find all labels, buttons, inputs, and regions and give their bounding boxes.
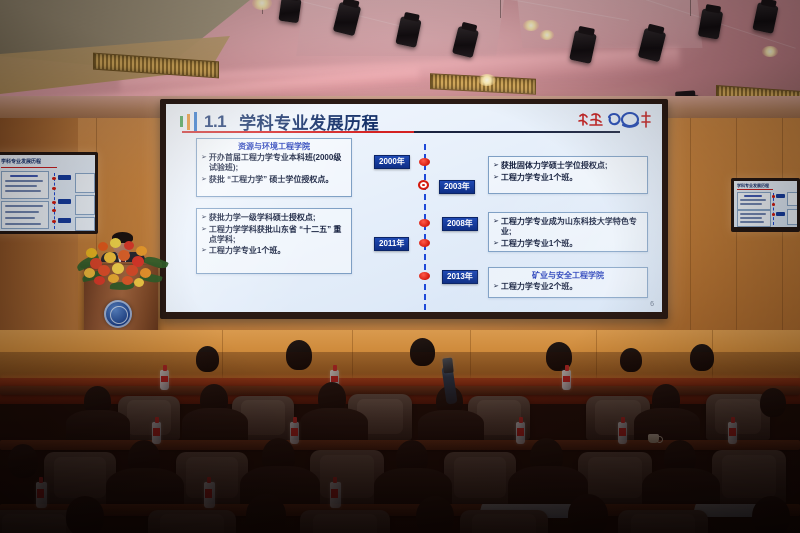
bullet-arrow-icon: ➢: [493, 173, 499, 184]
box-heading: 资源与环境工程学院: [201, 142, 347, 152]
timeline-marker-2000: [419, 158, 430, 166]
box-item: ➢工程力学专业成为山东科技大学特色专业;: [493, 217, 643, 238]
slide-box-mid-right: ➢工程力学专业成为山东科技大学特色专业; ➢工程力学专业1个班。: [488, 212, 648, 252]
slide-box-top-left: 资源与环境工程学院 ➢开办首届工程力学专业本科班(2000级试验班); ➢获批 …: [196, 138, 352, 197]
bullet-arrow-icon: ➢: [201, 175, 207, 186]
slide-box-top-right: ➢获批固体力学硕士学位授权点; ➢工程力学专业1个班。: [488, 156, 648, 194]
box-item: ➢工程力学专业1个班。: [201, 246, 347, 257]
timeline-marker-2008: [419, 219, 430, 227]
side-monitor-left: 学科专业发展历程: [0, 152, 98, 234]
bullet-arrow-icon: ➢: [201, 246, 207, 257]
university-emblem-icon: [104, 300, 132, 328]
box-item: ➢工程力学学科获批山东省 “十二五” 重点学科;: [201, 225, 347, 246]
title-tick-blue-icon: [194, 112, 197, 131]
audience-shadow-overlay: [0, 352, 800, 533]
ceiling-downlight: [762, 46, 778, 57]
slide-box-bottom-left: ➢获批力学一级学科硕士授权点; ➢工程力学学科获批山东省 “十二五” 重点学科;…: [196, 208, 352, 274]
bullet-arrow-icon: ➢: [201, 225, 207, 246]
bullet-arrow-icon: ➢: [493, 217, 499, 238]
floral-arrangement: [80, 232, 164, 288]
timeline-axis: [424, 144, 426, 310]
ceiling-downlight: [540, 30, 554, 40]
bullet-arrow-icon: ➢: [201, 213, 207, 224]
projection-screen: 1.1 学科专业发展历程 资源与环境工程学院 ➢开办首届工程力学专业本科班(20…: [166, 104, 662, 312]
box-item: ➢工程力学专业2个班。: [493, 282, 643, 293]
monitor-left-title: 学科专业发展历程: [1, 158, 41, 165]
anniversary-logo-icon: [576, 108, 652, 134]
side-monitor-right: 学科专业发展历程: [731, 178, 800, 232]
ceiling-downlight: [523, 20, 539, 31]
timeline-year-2003: 2003年: [439, 180, 475, 194]
timeline-year-2000: 2000年: [374, 155, 410, 169]
rigging-wire: [690, 0, 691, 16]
bullet-arrow-icon: ➢: [201, 153, 207, 174]
rigging-wire: [500, 0, 501, 18]
ceiling-panel: [517, 0, 702, 48]
box-item: ➢获批力学一级学科硕士授权点;: [201, 213, 347, 224]
lecture-hall-scene: 学科专业发展历程: [0, 0, 800, 533]
timeline-year-2011: 2011年: [374, 237, 409, 251]
box-item: ➢开办首届工程力学专业本科班(2000级试验班);: [201, 153, 347, 174]
title-tick-green-icon: [180, 116, 183, 127]
timeline-marker-2003: [418, 180, 429, 190]
ceiling-downlight: [478, 74, 496, 86]
timeline-year-2013: 2013年: [442, 270, 478, 284]
bullet-arrow-icon: ➢: [493, 239, 499, 250]
box-heading: 矿业与安全工程学院: [493, 271, 643, 281]
slide-section-number: 1.1: [204, 112, 226, 132]
bullet-arrow-icon: ➢: [493, 161, 499, 172]
slide-box-bottom-right: 矿业与安全工程学院 ➢工程力学专业2个班。: [488, 267, 648, 298]
stage-spotlight: [278, 0, 301, 23]
box-item: ➢工程力学专业1个班。: [493, 173, 643, 184]
timeline-marker-2011: [419, 239, 430, 247]
bullet-arrow-icon: ➢: [493, 282, 499, 293]
slide-page-number: 6: [650, 301, 654, 308]
box-item: ➢获批 “工程力学” 硕士学位授权点。: [201, 175, 347, 186]
box-item: ➢获批固体力学硕士学位授权点;: [493, 161, 643, 172]
title-tick-orange-icon: [187, 114, 190, 130]
timeline-marker-2013: [419, 272, 430, 280]
title-underline-red: [182, 131, 414, 133]
box-item: ➢工程力学专业1个班。: [493, 239, 643, 250]
timeline-year-2008: 2008年: [442, 217, 478, 231]
